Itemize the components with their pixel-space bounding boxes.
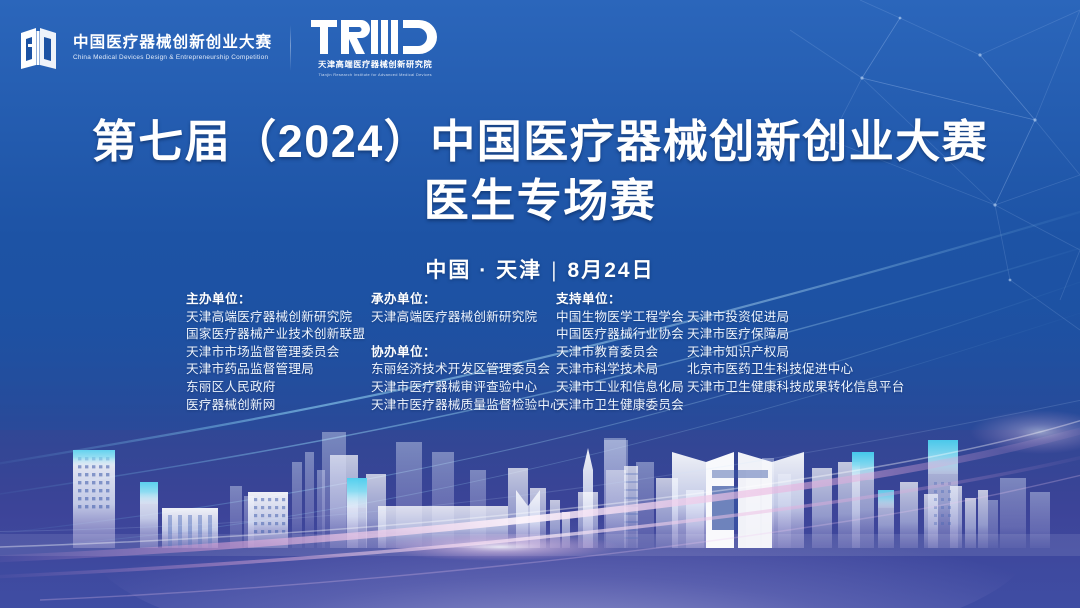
tower-windowed-left — [73, 450, 115, 548]
co-organizer-item: 天津市医疗器械审评查验中心 — [371, 379, 556, 397]
sponsor-column-organizer: 承办单位： 天津高端医疗器械创新研究院 协办单位： 东丽经济技术开发区管理委员会… — [371, 291, 556, 414]
organizer-item: 天津高端医疗器械创新研究院 — [371, 309, 556, 327]
heading-offset-spacer — [687, 291, 897, 309]
date-separator: | — [542, 259, 567, 283]
logo-trimd-cn: 天津高端医疗器械创新研究院 — [318, 58, 432, 70]
sponsor-column-supporters-a: 支持单位： 中国生物医学工程学会 中国医疗器械行业协会 天津市教育委员会 天津市… — [556, 291, 687, 414]
logo-trimd-en: Tianjin Research Institute for Advanced … — [318, 72, 431, 77]
supporter-item: 北京市医药卫生科技促进中心 — [687, 361, 897, 379]
supporter-item: 天津市教育委员会 — [556, 344, 687, 362]
date-text: 8月24日 — [568, 259, 655, 282]
page-title-line2: 医生专场赛 — [0, 171, 1080, 230]
host-item: 国家医疗器械产业技术创新联盟 — [186, 326, 371, 344]
supporter-item: 中国生物医学工程学会 — [556, 309, 687, 327]
host-heading: 主办单位： — [186, 291, 371, 309]
group-spacer — [371, 326, 556, 344]
location-text: 中国 · 天津 — [425, 259, 542, 282]
sponsor-columns: 主办单位： 天津高端医疗器械创新研究院 国家医疗器械产业技术创新联盟 天津市市场… — [186, 291, 906, 414]
host-item: 东丽区人民政府 — [186, 379, 371, 397]
supporter-item: 天津市工业和信息化局 — [556, 379, 687, 397]
organizer-heading: 承办单位： — [371, 291, 556, 309]
supporter-item: 天津市投资促进局 — [687, 309, 897, 327]
date-location-line: 中国 · 天津|8月24日 — [0, 254, 1080, 284]
co-organizer-item: 天津市医疗器械质量监督检验中心 — [371, 397, 556, 415]
page-title-line1: 第七届（2024）中国医疗器械创新创业大赛 — [0, 112, 1080, 171]
sponsor-column-host: 主办单位： 天津高端医疗器械创新研究院 国家医疗器械产业技术创新联盟 天津市市场… — [186, 291, 371, 414]
ribbon-hotspot — [380, 533, 620, 561]
supporter-item: 天津市科学技术局 — [556, 361, 687, 379]
logo-divider — [290, 25, 291, 71]
header-logo-bar: 中国医疗器械创新创业大赛 China Medical Devices Desig… — [0, 0, 1080, 96]
supporter-item: 天津市卫生健康委员会 — [556, 397, 687, 415]
logo-primary-en: China Medical Devices Design & Entrepren… — [73, 54, 276, 63]
trimd-wordmark-icon — [311, 20, 439, 54]
supporter-item: 中国医疗器械行业协会 — [556, 326, 687, 344]
host-item: 天津市药品监督管理局 — [186, 361, 371, 379]
supporters-heading: 支持单位： — [556, 291, 687, 309]
sponsor-column-supporters-b: 天津市投资促进局 天津市医疗保障局 天津市知识产权局 北京市医药卫生科技促进中心… — [687, 291, 897, 397]
open-door-book-icon — [18, 25, 64, 71]
logo-primary-cn: 中国医疗器械创新创业大赛 — [73, 34, 272, 52]
co-organizer-heading: 协办单位： — [371, 344, 556, 362]
co-organizer-item: 东丽经济技术开发区管理委员会 — [371, 361, 556, 379]
title-block: 第七届（2024）中国医疗器械创新创业大赛 医生专场赛 — [0, 112, 1080, 231]
supporter-item: 天津市卫生健康科技成果转化信息平台 — [687, 379, 897, 397]
supporter-item: 天津市医疗保障局 — [687, 326, 897, 344]
logo-trimd: 天津高端医疗器械创新研究院 Tianjin Research Institute… — [311, 20, 439, 77]
supporter-item: 天津市知识产权局 — [687, 344, 897, 362]
poster-canvas: 中国医疗器械创新创业大赛 China Medical Devices Desig… — [0, 0, 1080, 608]
host-item: 医疗器械创新网 — [186, 397, 371, 415]
logo-china-medical-devices-competition: 中国医疗器械创新创业大赛 China Medical Devices Desig… — [18, 25, 272, 71]
host-item: 天津市市场监督管理委员会 — [186, 344, 371, 362]
host-item: 天津高端医疗器械创新研究院 — [186, 309, 371, 327]
